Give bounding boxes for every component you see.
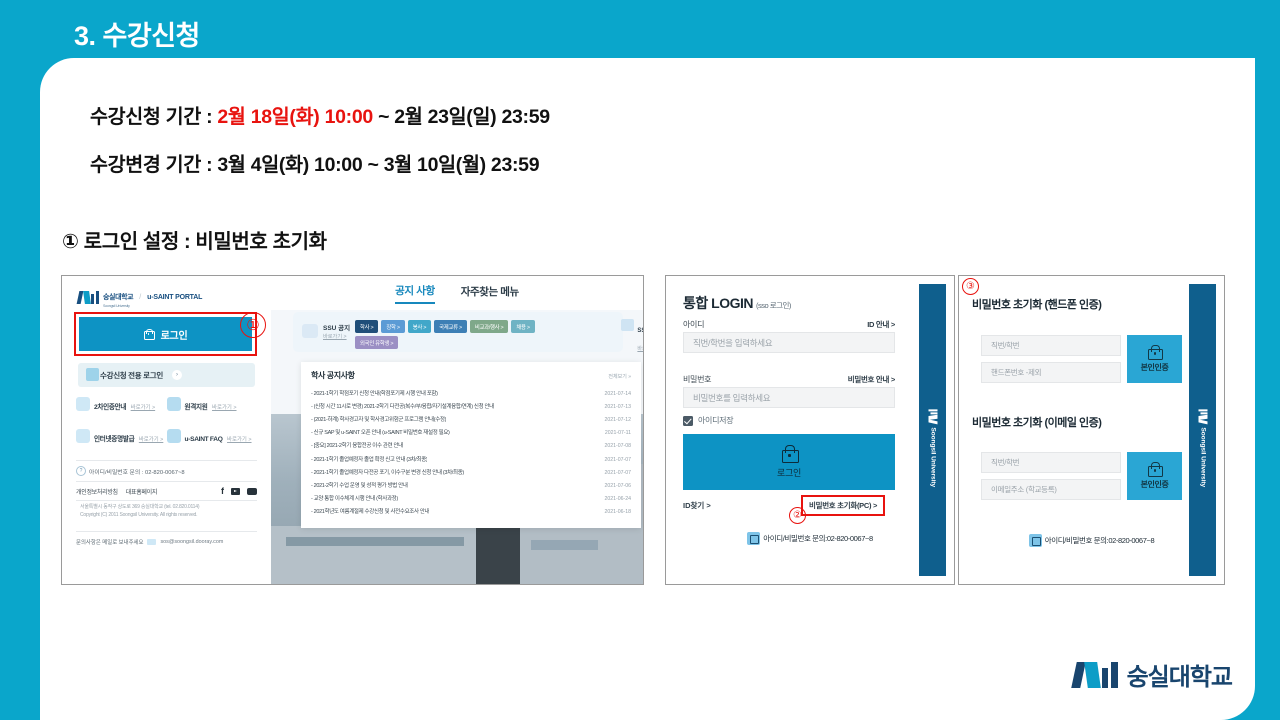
- board-row-date: 2021-07-13: [604, 404, 631, 410]
- quick-link-go: 바로가기 >: [139, 437, 163, 443]
- board-row-text: - 2021학년도 여름계절제 수강신청 및 사전수요조사 안내: [311, 507, 429, 515]
- board-header: 학사 공지사항 전체보기 »: [311, 370, 631, 381]
- login-title-main: 통합 LOGIN: [683, 295, 753, 311]
- ssu-notice-bar: SSU 공지 바로가기 > 학사 > 장학 > 봉사 > 국제교류 > 비교과/…: [293, 312, 623, 352]
- reset-email-auth-button[interactable]: 본인인증: [1127, 452, 1182, 500]
- board-row[interactable]: - (신청 시간 11시로 변경) 2021-2학기 다전공(복수/부/융합/자…: [311, 399, 631, 412]
- reset-qna-line: 아이디/비밀번호 문의:02-820-0067~8: [959, 534, 1225, 547]
- shield-icon: [76, 397, 90, 411]
- course-registration-login-button[interactable]: 수강신청 전용 로그인 ›: [78, 363, 255, 387]
- board-row[interactable]: - [중요] 2021-2학기 융합전공 이수 관련 안내2021-07-08: [311, 439, 631, 452]
- board-row-text: - 2021-1학기 학점포기 신청 안내(학점포기제 시행 안내 포함): [311, 389, 438, 397]
- board-row-date: 2021-07-11: [605, 430, 631, 436]
- portal-right-column: 공지 사항 자주찾는 메뉴 SSU 공지 바로가기 > 학사 > 장학 > 봉사…: [271, 276, 643, 584]
- portal-logo-en: Soongsil University: [103, 304, 133, 308]
- reset-email-title: 비밀번호 초기화 (이메일 인증): [972, 414, 1101, 430]
- login-title-sub: (sso 로그인): [756, 301, 791, 310]
- privacy-policy-link[interactable]: 개인정보처리방침: [76, 487, 118, 496]
- apply-period-line: 수강신청 기간 : 2월 18일(화) 10:00 ~ 2월 23일(일) 23…: [90, 100, 550, 129]
- board-row-text: - 2021-2학기 수업 운영 및 성적 평가 방법 안내: [311, 481, 408, 489]
- board-row-date: 2021-07-14: [604, 391, 631, 397]
- portal-logo-text: 숭실대학교 Soongsil University: [103, 286, 133, 308]
- chevron-right-icon: ›: [172, 370, 182, 380]
- facebook-icon[interactable]: f: [221, 486, 224, 496]
- portal-logo-ko: 숭실대학교: [103, 294, 133, 301]
- id-field-row: 아이디 ID 안내 >: [683, 319, 895, 330]
- board-row-date: 2021-06-24: [604, 496, 631, 502]
- login-submit-button[interactable]: 로그인: [683, 434, 895, 490]
- screenshot-password-reset: 비밀번호 초기화 (핸드폰 인증) 직번/학번 핸드폰번호 -제외 본인인증 비…: [958, 275, 1225, 585]
- portal-tabs: 공지 사항 자주찾는 메뉴: [271, 276, 643, 310]
- portal-logo-portal: u-SAINT PORTAL: [147, 294, 202, 301]
- reset-qna-text: 아이디/비밀번호 문의:02-820-0067~8: [1045, 535, 1154, 546]
- notice-side-links: SSU 뉴스 바로가기 > 비교과 FUN 바로가기 >: [621, 319, 643, 355]
- reset-email-id-input[interactable]: 직번/학번: [981, 452, 1121, 473]
- user-card-icon: [86, 368, 99, 381]
- login-qna-text: 아이디/비밀번호 문의:02-820-0067~8: [763, 533, 872, 544]
- portal-login-button[interactable]: 로그인: [79, 317, 252, 351]
- apply-period-label: 수강신청 기간 :: [90, 106, 217, 128]
- lock-icon: [782, 445, 797, 463]
- faq-icon: [167, 429, 181, 443]
- portal-side-banner: Soongsil University: [1189, 284, 1216, 576]
- password-help-link[interactable]: 비밀번호 안내 >: [848, 374, 895, 385]
- mail-address[interactable]: sos@soongsil.dooray.com: [160, 539, 223, 545]
- chip-volunteer[interactable]: 봉사 >: [408, 320, 431, 333]
- quick-link-row-1: 2차인증안내 바로가기 > 원격지원 바로가기 >: [76, 396, 257, 414]
- ssu-logo-mark: [78, 291, 99, 304]
- window-strip: [531, 540, 598, 550]
- chip-recruit[interactable]: 채용 >: [511, 320, 534, 333]
- portal-contact-text: 아이디/비밀번호 문의 : 02-820-0067~8: [89, 467, 185, 476]
- chip-extracurricular[interactable]: 비교과/행사 >: [470, 320, 509, 333]
- board-title: 학사 공지사항: [311, 370, 355, 381]
- quick-link-faq[interactable]: u-SAINT FAQ 바로가기 >: [167, 428, 258, 446]
- monitor-icon: [167, 397, 181, 411]
- login-submit-label: 로그인: [777, 466, 801, 479]
- board-row[interactable]: - (2021-하계) 학사경고자 및 학사경고위험군 프로그램 안내(수정)2…: [311, 412, 631, 425]
- chip-foreign-student[interactable]: 외국인 유학생 >: [355, 336, 398, 349]
- ssu-notice-go[interactable]: 바로가기 >: [323, 333, 347, 340]
- board-row-date: 2021-06-18: [604, 509, 631, 515]
- portal-logo-separator: /: [139, 294, 141, 301]
- social-icons: f: [221, 486, 257, 496]
- lock-icon: [1148, 462, 1161, 477]
- section-label: ① 로그인 설정 : 비밀번호 초기화: [62, 225, 327, 254]
- portal-mail-line: 문의사항은 메일로 보내주세요 sos@soongsil.dooray.com: [76, 531, 257, 546]
- board-row-text: - 신규 SAP 및 u-SAINT 오픈 안내 (u-SAINT 비밀번호 재…: [311, 428, 450, 436]
- board-row[interactable]: - 2021-2학기 수업 운영 및 성적 평가 방법 안내2021-07-06: [311, 478, 631, 491]
- board-row[interactable]: - 2021-1학기 졸업예정자 졸업 확정 신고 안내 (3차/최종)2021…: [311, 452, 631, 465]
- board-row[interactable]: - 2021-1학기 학점포기 신청 안내(학점포기제 시행 안내 포함)202…: [311, 386, 631, 399]
- portal-contact-line: ? 아이디/비밀번호 문의 : 02-820-0067~8: [76, 460, 257, 476]
- reset-phone-auth-button[interactable]: 본인인증: [1127, 335, 1182, 383]
- question-mark-icon: ?: [76, 466, 86, 476]
- checkbox-checked-icon[interactable]: [683, 416, 693, 426]
- reset-email-auth-label: 본인인증: [1141, 479, 1169, 490]
- quick-link-label: u-SAINT FAQ: [185, 436, 223, 443]
- portal-side-banner: Soongsil University: [919, 284, 946, 576]
- board-row-text: - 2021-1학기 졸업예정자 다전공 포기, 이수구분 변경 신청 안내 (…: [311, 468, 464, 476]
- footer-university-name: 숭실대학교: [1127, 657, 1232, 692]
- envelope-icon: [147, 539, 156, 545]
- tab-frequent-menu[interactable]: 자주찾는 메뉴: [461, 284, 519, 303]
- step-marker-3: ③: [962, 278, 979, 295]
- footer-logo: 숭실대학교: [1074, 657, 1232, 692]
- step-marker-2: ②: [789, 507, 806, 524]
- reset-phone-number-input[interactable]: 핸드폰번호 -제외: [981, 362, 1121, 383]
- quick-link-remote-support[interactable]: 원격지원 바로가기 >: [167, 396, 258, 414]
- youtube-icon[interactable]: [231, 488, 240, 495]
- news-icon: [621, 319, 634, 331]
- board-row-text: - (2021-하계) 학사경고자 및 학사경고위험군 프로그램 안내(수정): [311, 415, 446, 423]
- screenshot-integrated-login: 통합 LOGIN(sso 로그인) 아이디 ID 안내 > 직번/학번을 입력하…: [665, 275, 955, 585]
- reset-phone-id-input[interactable]: 직번/학번: [981, 335, 1121, 356]
- board-row-date: 2021-07-08: [604, 443, 631, 449]
- apply-period-highlight: 2월 18일(화) 10:00: [217, 106, 373, 128]
- side-banner-text: Soongsil University: [929, 427, 936, 487]
- save-id-checkbox-row[interactable]: 아이디저장: [683, 415, 733, 426]
- login-panel-title: 통합 LOGIN(sso 로그인): [683, 293, 791, 313]
- chip-international[interactable]: 국제교류 >: [434, 320, 467, 333]
- document-icon: [76, 429, 90, 443]
- reset-phone-title: 비밀번호 초기화 (핸드폰 인증): [972, 296, 1101, 312]
- id-label: 아이디: [683, 319, 704, 330]
- reset-phone-auth-label: 본인인증: [1141, 362, 1169, 373]
- lock-icon: [1148, 345, 1161, 360]
- kakao-icon[interactable]: [247, 488, 257, 495]
- portal-logo: 숭실대학교 Soongsil University / u-SAINT PORT…: [78, 286, 202, 308]
- lock-icon: [144, 329, 153, 340]
- lock-help-icon: [747, 532, 760, 545]
- password-input[interactable]: 비밀번호를 입력하세요: [683, 387, 895, 408]
- main-homepage-link[interactable]: 대표홈페이지: [126, 487, 157, 496]
- board-row[interactable]: - 2021학년도 여름계절제 수강신청 및 사전수요조사 안내2021-06-…: [311, 505, 631, 518]
- board-view-all[interactable]: 전체보기 »: [608, 373, 631, 380]
- quick-link-label: 인터넷증명발급: [94, 436, 134, 443]
- step-marker-1: ①: [240, 312, 266, 338]
- chip-academic[interactable]: 학사 >: [355, 320, 378, 333]
- chip-scholarship[interactable]: 장학 >: [381, 320, 404, 333]
- board-row-text: - (신청 시간 11시로 변경) 2021-2학기 다전공(복수/부/융합/자…: [311, 402, 494, 410]
- reset-password-link[interactable]: 비밀번호 초기화(PC) >: [801, 495, 885, 516]
- password-label: 비밀번호: [683, 374, 711, 385]
- mail-label: 문의사항은 메일로 보내주세요: [76, 538, 143, 546]
- password-field-row: 비밀번호 비밀번호 안내 >: [683, 374, 895, 385]
- portal-footer-links: 개인정보처리방침 대표홈페이지 f: [76, 481, 257, 501]
- ssu-news-go: 바로가기 >: [637, 346, 643, 352]
- quick-link-go: 바로가기 >: [227, 437, 251, 443]
- quick-link-certificate[interactable]: 인터넷증명발급 바로가기 >: [76, 428, 167, 446]
- board-row[interactable]: - 신규 SAP 및 u-SAINT 오픈 안내 (u-SAINT 비밀번호 재…: [311, 426, 631, 439]
- quick-link-go: 바로가기 >: [131, 405, 155, 411]
- board-row-date: 2021-07-07: [604, 470, 631, 476]
- quick-link-2fa[interactable]: 2차인증안내 바로가기 >: [76, 396, 167, 414]
- board-row[interactable]: - 교양 통합 이수체계 시행 안내 (학사과정)2021-06-24: [311, 492, 631, 505]
- id-help-link[interactable]: ID 안내 >: [867, 319, 895, 330]
- login-qna-line: 아이디/비밀번호 문의:02-820-0067~8: [666, 532, 955, 545]
- side-banner-text: Soongsil University: [1199, 427, 1206, 487]
- board-row-text: - [중요] 2021-2학기 융합전공 이수 관련 안내: [311, 441, 403, 449]
- save-id-label: 아이디저장: [698, 415, 733, 426]
- board-row-date: 2021-07-07: [604, 457, 631, 463]
- course-registration-login-label: 수강신청 전용 로그인: [100, 370, 163, 381]
- tab-notice[interactable]: 공지 사항: [395, 283, 435, 304]
- portal-login-button-label: 로그인: [161, 327, 188, 342]
- change-period-line: 수강변경 기간 : 3월 4일(화) 10:00 ~ 3월 10일(월) 23:…: [90, 148, 539, 177]
- quick-link-label: 2차인증안내: [94, 404, 126, 411]
- id-input[interactable]: 직번/학번을 입력하세요: [683, 332, 895, 353]
- building-left: [271, 526, 476, 584]
- board-row-text: - 2021-1학기 졸업예정자 졸업 확정 신고 안내 (3차/최종): [311, 455, 427, 463]
- login-button-highlight-box: 로그인: [74, 312, 257, 356]
- academic-notice-board: 학사 공지사항 전체보기 » - 2021-1학기 학점포기 신청 안내(학점포…: [301, 362, 641, 528]
- ssu-news-link[interactable]: SSU 뉴스 바로가기 >: [621, 319, 643, 355]
- page-title: 3. 수강신청: [74, 14, 200, 53]
- find-id-link[interactable]: ID찾기 >: [683, 500, 711, 511]
- board-row[interactable]: - 2021-1학기 졸업예정자 다전공 포기, 이수구분 변경 신청 안내 (…: [311, 465, 631, 478]
- ssu-notice-title: SSU 공지: [323, 322, 350, 332]
- megaphone-icon: [302, 324, 318, 338]
- ssu-logo-mark: [1198, 408, 1207, 422]
- quick-link-label: 원격지원: [185, 404, 208, 411]
- board-row-date: 2021-07-12: [604, 417, 631, 423]
- notice-category-chips: 학사 > 장학 > 봉사 > 국제교류 > 비교과/행사 > 채용 > 외국인 …: [355, 320, 555, 349]
- reset-email-address-input[interactable]: 이메일주소 (학교등록): [981, 479, 1121, 500]
- board-row-text: - 교양 통합 이수체계 시행 안내 (학사과정): [311, 494, 398, 502]
- portal-address: 서울특별시 동작구 상도로 369 숭실대학교 (tel. 02.820.011…: [80, 504, 260, 520]
- screenshot-portal-home: 숭실대학교 Soongsil University / u-SAINT PORT…: [61, 275, 644, 585]
- apply-period-rest: ~ 2월 23일(일) 23:59: [373, 106, 550, 128]
- board-row-date: 2021-07-06: [604, 483, 631, 489]
- lock-help-icon: [1029, 534, 1042, 547]
- quick-link-go: 바로가기 >: [212, 405, 236, 411]
- ssu-logo-mark: [1074, 662, 1118, 688]
- ssu-news-label: SSU 뉴스: [637, 328, 643, 334]
- ssu-logo-mark: [928, 408, 937, 422]
- quick-link-row-2: 인터넷증명발급 바로가기 > u-SAINT FAQ 바로가기 >: [76, 428, 257, 446]
- window-strip: [286, 537, 465, 546]
